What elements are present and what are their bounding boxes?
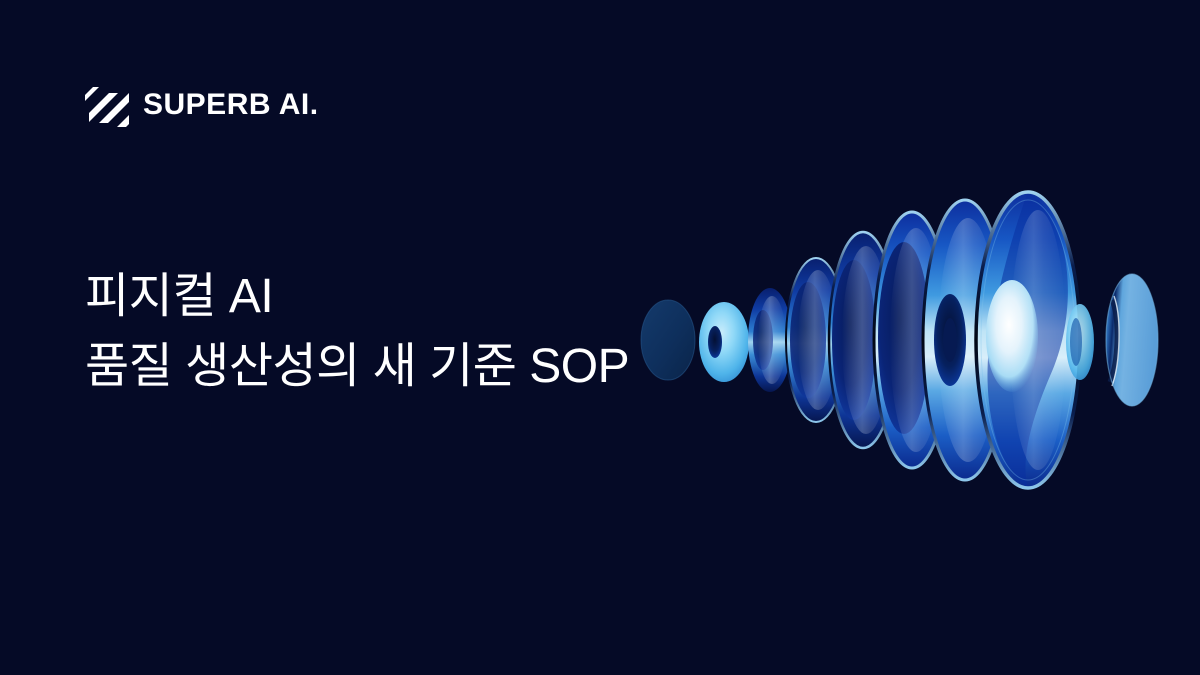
lens-disc-7 xyxy=(923,200,1007,480)
lens-disc-10 xyxy=(1106,274,1158,406)
headline-block: 피지컬 AI 품질 생산성의 새 기준 SOP xyxy=(85,262,725,402)
lens-disc-4 xyxy=(786,258,846,422)
lens-disc-6 xyxy=(874,212,950,468)
lens-disc-3 xyxy=(748,288,792,392)
headline-line-1: 피지컬 AI xyxy=(85,262,725,332)
headline-line-2: 품질 생산성의 새 기준 SOP xyxy=(85,332,725,402)
lens-disc-8 xyxy=(976,192,1080,488)
superb-ai-logo-mark-icon xyxy=(85,83,129,127)
promo-banner: SUPERB AI. 피지컬 AI 품질 생산성의 새 기준 SOP xyxy=(0,0,1200,675)
brand-lockup: SUPERB AI. xyxy=(85,79,319,131)
lens-disc-9 xyxy=(1066,304,1094,380)
lens-disc-5 xyxy=(829,232,897,448)
brand-name-text: SUPERB AI. xyxy=(143,90,319,120)
